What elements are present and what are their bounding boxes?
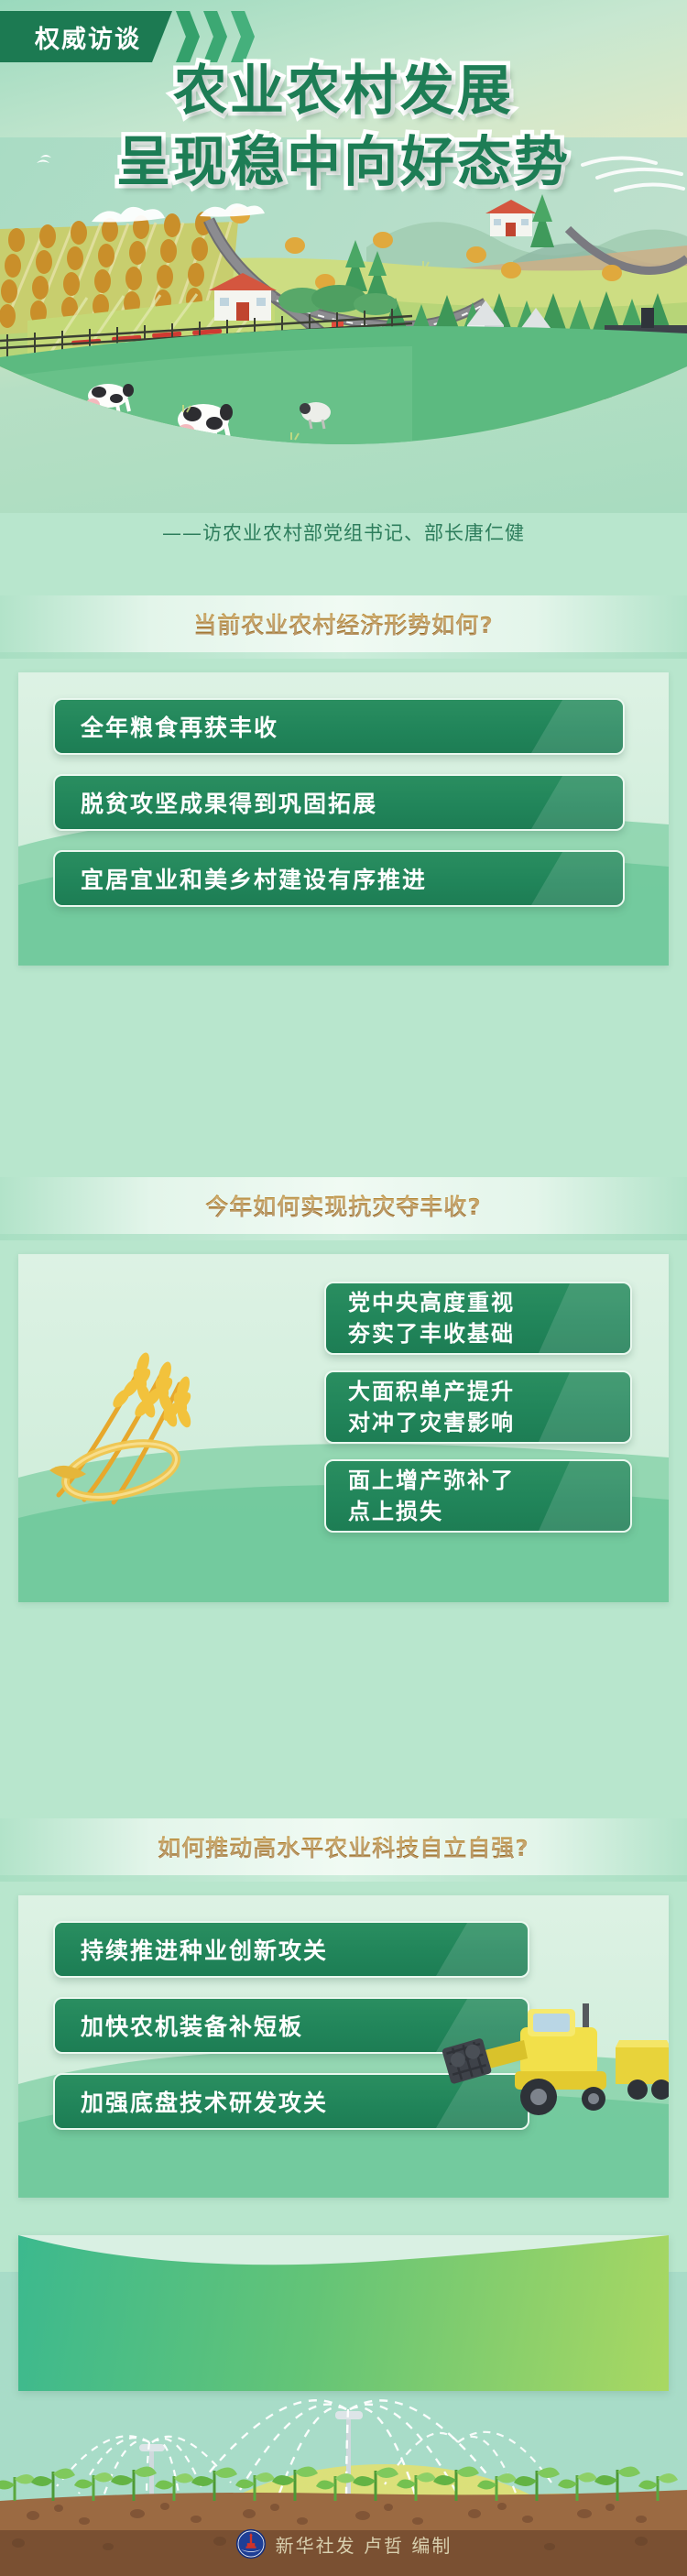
section-2-body: 党中央高度重视 夯实了丰收基础 大面积单产提升 对冲了灾害影响 面上增产弥补了 … <box>18 1254 669 1602</box>
chevron-right-icon-3 <box>231 11 255 62</box>
authority-interview-ribbon: 权威访谈 <box>0 11 255 62</box>
chevron-right-icon-2 <box>203 11 227 62</box>
infographic-page: 权威访谈 农业农村发展 呈现稳中向好态势 ——访农业农村部党组书记、部长唐仁健 … <box>0 0 687 2576</box>
list-item[interactable]: 持续推进种业创新攻关 <box>53 1921 529 1978</box>
section-2-heading-text: 今年如何实现抗灾夺丰收? <box>205 1189 482 1222</box>
pill-sheen <box>531 852 623 905</box>
double-chevron-right-icon <box>176 11 200 62</box>
section-agri-technology: 如何推动高水平农业科技自立自强? <box>0 1818 687 2198</box>
list-item-label: 脱贫攻坚成果得到巩固拓展 <box>55 786 377 819</box>
green-gradient-band <box>18 2235 669 2391</box>
section-3-heading-text: 如何推动高水平农业科技自立自强? <box>158 1830 529 1863</box>
list-item[interactable]: 宜居宜业和美乡村建设有序推进 <box>53 850 625 907</box>
section-3-body: 持续推进种业创新攻关 加快农机装备补短板 加强底盘技术研发攻关 <box>18 1895 669 2198</box>
list-item-label: 持续推进种业创新攻关 <box>55 1933 328 1966</box>
section-2-header: 今年如何实现抗灾夺丰收? <box>0 1177 687 1234</box>
footer-credit: 新华社发 卢哲 编制 <box>0 2528 687 2560</box>
section-1-heading-text: 当前农业农村经济形势如何? <box>193 607 494 640</box>
pill-sheen <box>436 1923 528 1976</box>
list-item[interactable]: 党中央高度重视 夯实了丰收基础 <box>324 1282 632 1355</box>
list-item-label: 全年粮食再获丰收 <box>55 710 278 743</box>
footer-credit-text: 新华社发 卢哲 编制 <box>276 2531 453 2558</box>
list-item-label: 加快农机装备补短板 <box>55 2009 303 2042</box>
page-title: 农业农村发展 呈现稳中向好态势 <box>0 57 687 196</box>
pill-sheen <box>539 1283 630 1353</box>
list-item[interactable]: 脱贫攻坚成果得到巩固拓展 <box>53 774 625 831</box>
list-item[interactable]: 大面积单产提升 对冲了灾害影响 <box>324 1370 632 1444</box>
pill-sheen <box>539 1372 630 1442</box>
pill-sheen <box>531 700 623 753</box>
list-item-label: 大面积单产提升 对冲了灾害影响 <box>326 1376 515 1438</box>
wheat-ears-illustration <box>33 1307 308 1518</box>
section-1-body: 全年粮食再获丰收 脱贫攻坚成果得到巩固拓展 宜居宜业和美乡村建设有序推进 <box>18 672 669 966</box>
subtitle-text: ——访农业农村部党组书记、部长唐仁健 <box>162 522 525 544</box>
page-title-line-1: 农业农村发展 <box>0 57 687 125</box>
xinhua-news-agency-logo <box>235 2528 267 2560</box>
list-item-label: 宜居宜业和美乡村建设有序推进 <box>55 862 427 895</box>
pill-sheen <box>531 776 623 829</box>
harvester-combine-illustration <box>436 1983 669 2157</box>
section-current-situation: 当前农业农村经济形势如何? 全年粮食再获丰收 脱贫攻坚成果得到巩固拓展 宜居宜业… <box>0 595 687 966</box>
list-item-label: 面上增产弥补了 点上损失 <box>326 1465 515 1527</box>
section-3-header: 如何推动高水平农业科技自立自强? <box>0 1818 687 1875</box>
list-item[interactable]: 全年粮食再获丰收 <box>53 698 625 755</box>
ribbon-body: 权威访谈 <box>0 11 172 62</box>
list-item[interactable]: 面上增产弥补了 点上损失 <box>324 1459 632 1533</box>
subtitle: ——访农业农村部党组书记、部长唐仁健 <box>0 518 687 546</box>
section-disaster-resistance: 今年如何实现抗灾夺丰收? <box>0 1177 687 1602</box>
ribbon-label: 权威访谈 <box>35 19 141 55</box>
section-1-header: 当前农业农村经济形势如何? <box>0 595 687 652</box>
list-item-label: 加强底盘技术研发攻关 <box>55 2085 328 2118</box>
pill-sheen <box>539 1461 630 1531</box>
page-title-line-2: 呈现稳中向好态势 <box>0 128 687 196</box>
list-item-label: 党中央高度重视 夯实了丰收基础 <box>326 1287 515 1349</box>
